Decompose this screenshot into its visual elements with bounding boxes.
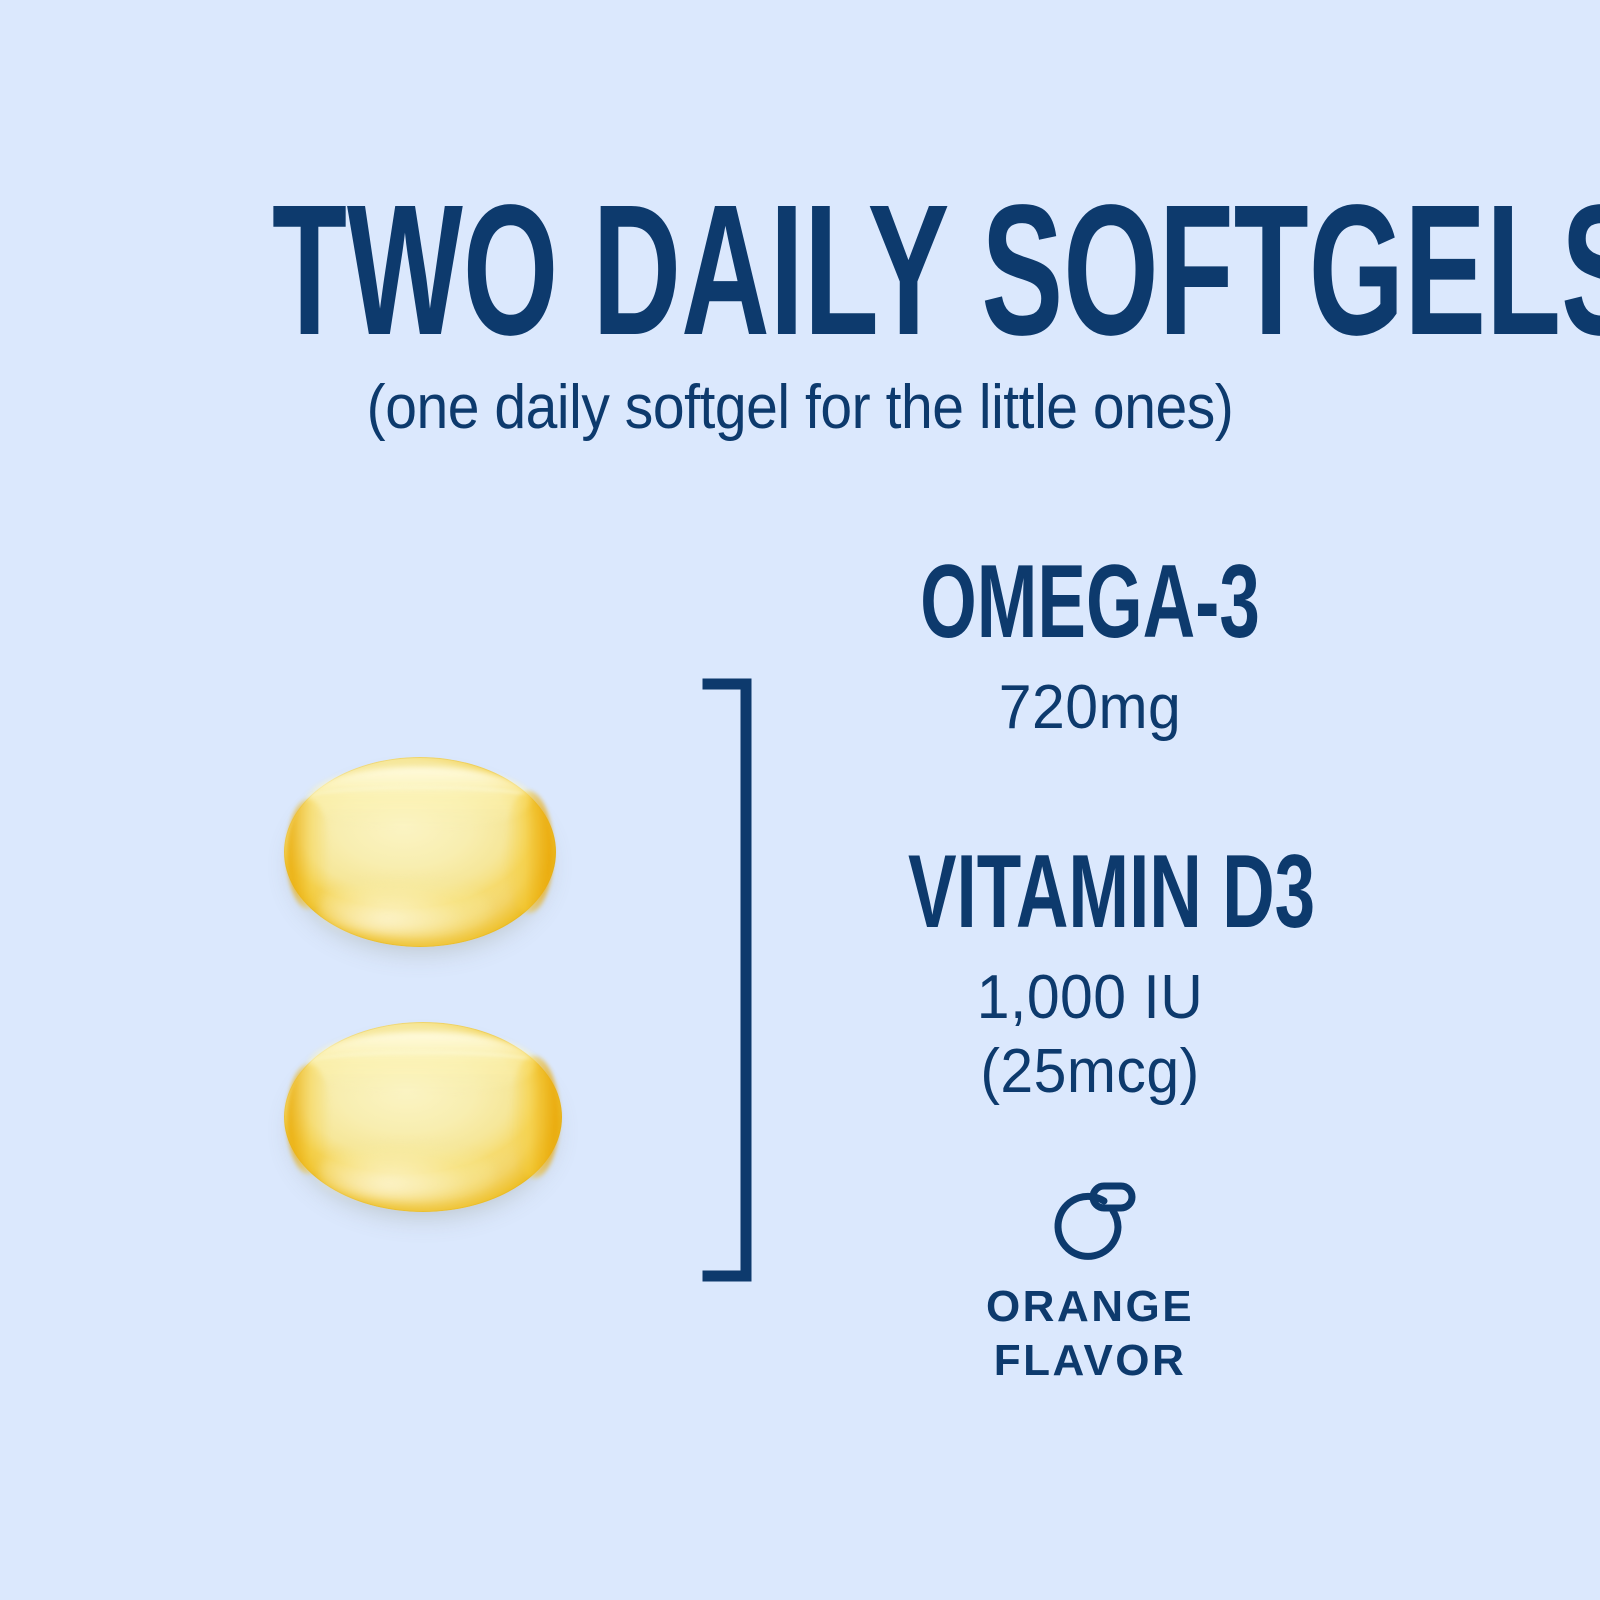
flavor-badge: ORANGE FLAVOR [830,1170,1350,1388]
capsule-seam-highlight [306,1051,540,1077]
capsule-seam-highlight [306,786,534,812]
nutrient-info-column: OMEGA-3 720mg VITAMIN D3 1,000 IU (25mcg… [830,550,1350,1388]
nutrient-block-vitamin-d3: VITAMIN D3 1,000 IU (25mcg) [830,840,1350,1108]
page-subtitle: (one daily softgel for the little ones) [64,370,1536,446]
capsule-rim-right [504,791,553,913]
capsule-rim-left [287,799,331,909]
softgel-capsule-bottom [284,1022,562,1212]
capsule-rim-left [287,1064,331,1174]
nutrient-block-omega-3: OMEGA-3 720mg [830,550,1350,744]
orange-icon-container [830,1170,1350,1274]
nutrient-name-vitamin-d3: VITAMIN D3 [908,840,1272,944]
nutrient-amount-alt-vitamin-d3: (25mcg) [843,1036,1337,1108]
page-title: TWO DAILY SOFTGELS [272,178,1328,364]
flavor-label-line-1: ORANGE [830,1280,1350,1334]
nutrient-name-omega-3: OMEGA-3 [908,550,1272,654]
softgel-capsule-top [284,757,556,947]
nutrient-amount-vitamin-d3: 1,000 IU [843,962,1337,1034]
nutrient-amount-omega-3: 720mg [843,672,1337,744]
orange-fruit-icon [1042,1174,1138,1270]
softgel-product-infographic: TWO DAILY SOFTGELS (one daily softgel fo… [0,0,1600,1600]
flavor-label-line-2: FLAVOR [830,1334,1350,1388]
bracket-right-icon [690,660,770,1300]
capsule-rim-right [509,1056,559,1178]
